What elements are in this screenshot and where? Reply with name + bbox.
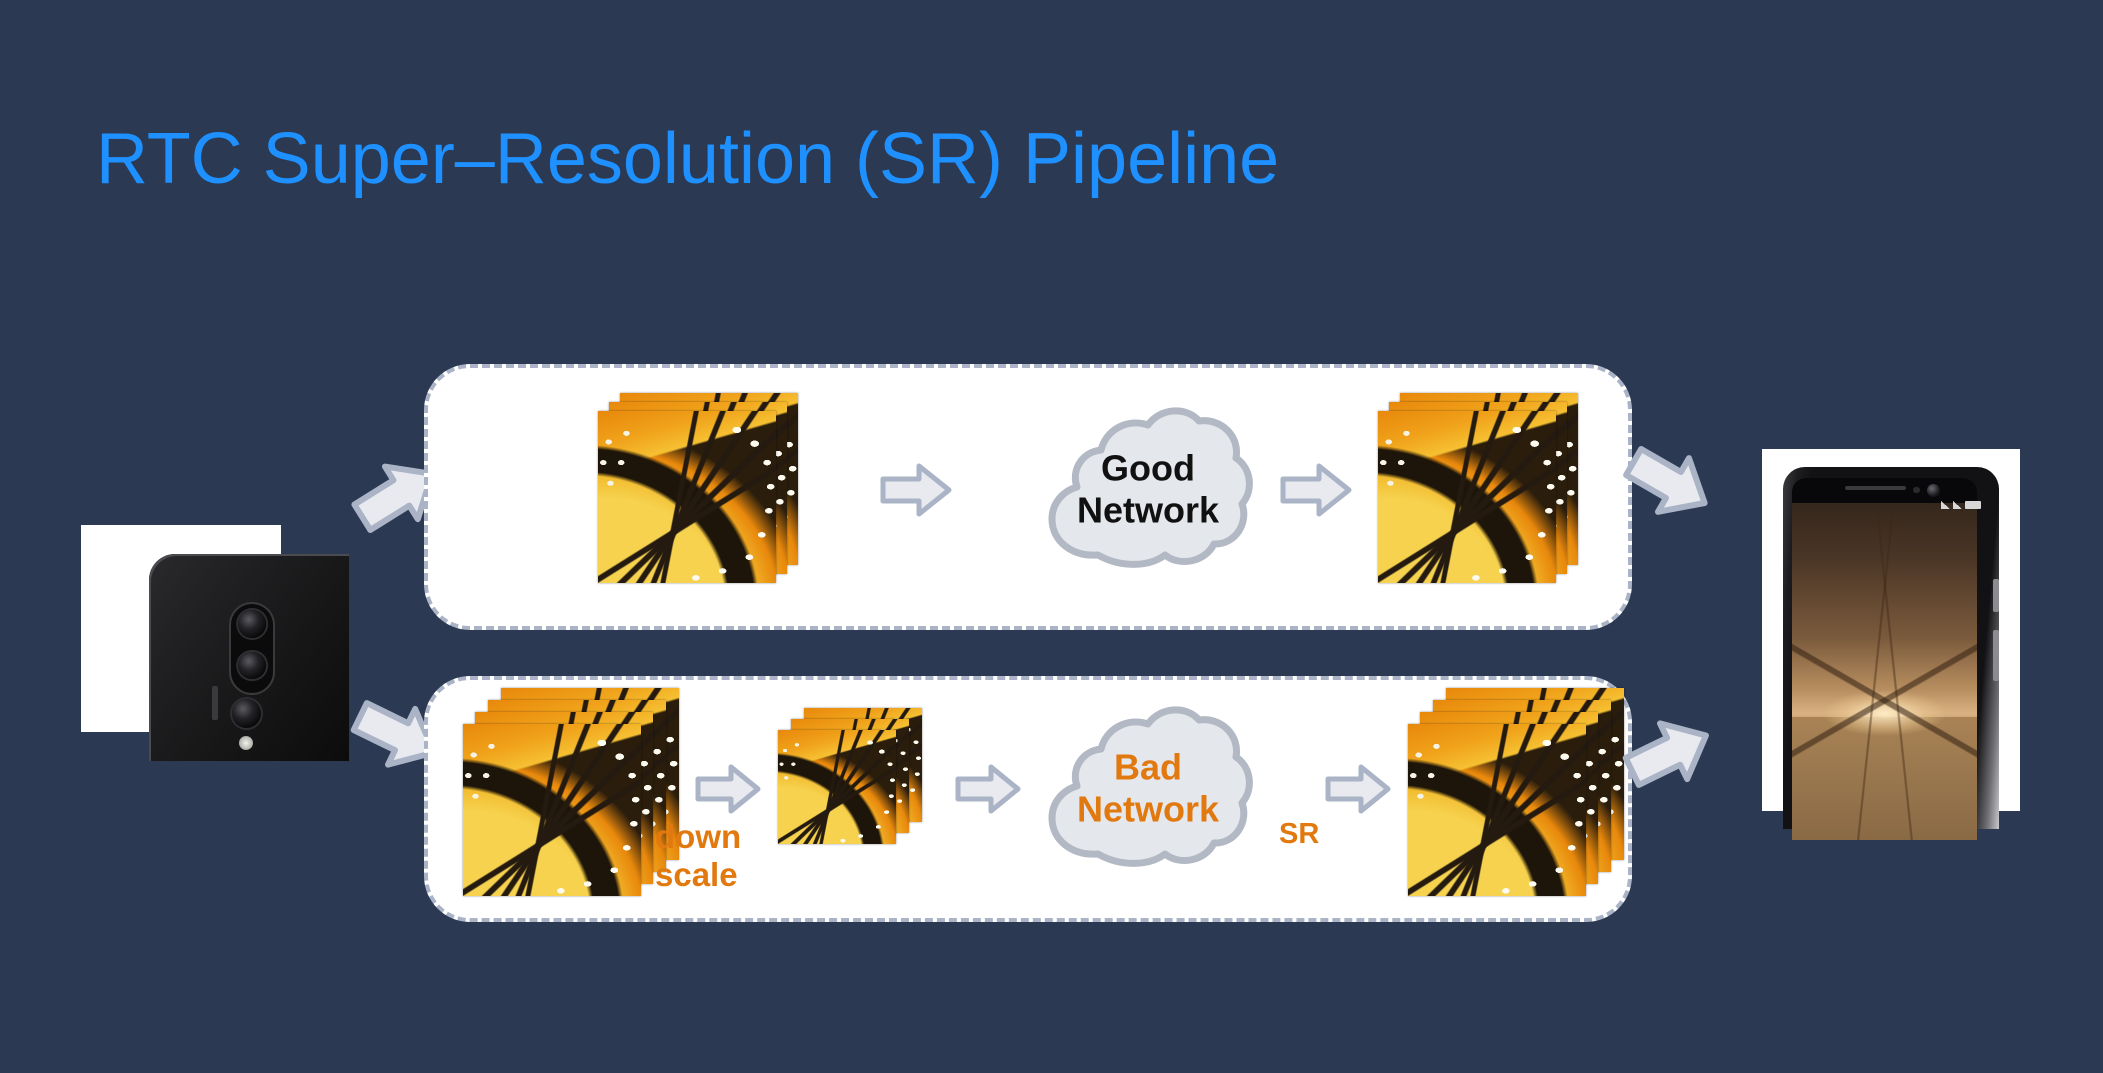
- phone-power-button: [1993, 630, 1999, 681]
- page-title: RTC Super–Resolution (SR) Pipeline: [96, 122, 1279, 198]
- image-stack-hr-source-bad: [463, 688, 683, 908]
- capture-phone-image: [81, 525, 281, 732]
- bad-network-pipeline-panel: Bad Network: [424, 676, 1632, 922]
- downscale-label-line1: down: [655, 818, 741, 856]
- downscale-label-line2: scale: [655, 856, 741, 894]
- image-stack-hr-source-good: [598, 393, 808, 593]
- phone-side-button: [212, 686, 218, 719]
- phone-top-bezel: [1792, 478, 1978, 503]
- good-network-pipeline-panel: Good Network: [424, 364, 1632, 630]
- sr-label: SR: [1279, 818, 1319, 852]
- display-phone-image: [1762, 449, 2020, 811]
- camera-band: [229, 602, 275, 695]
- slide-canvas: RTC Super–Resolution (SR) Pipeline: [0, 0, 2103, 1073]
- proximity-sensor-icon: [1913, 487, 1920, 494]
- arrow-transmit-bad: [953, 762, 1023, 816]
- good-network-cloud: Good Network: [1038, 395, 1258, 585]
- camera-lens-icon: [238, 652, 266, 680]
- image-stack-hr-received-good: [1378, 393, 1588, 593]
- camera-lens-icon: [238, 610, 266, 638]
- phone-rear-body: [149, 554, 349, 761]
- phone-volume-button: [1993, 579, 1999, 612]
- image-stack-sr-output: [1408, 688, 1628, 908]
- arrow-good-path-to-display: [1622, 440, 1718, 526]
- camera-flash-icon: [239, 736, 253, 750]
- signal-icon: [1941, 501, 1950, 509]
- downscale-label: down scale: [655, 818, 741, 895]
- battery-icon: [1965, 501, 1981, 509]
- camera-lens-icon: [232, 699, 261, 728]
- front-camera-icon: [1927, 484, 1940, 497]
- phone-screen-wallpaper: [1792, 478, 1978, 840]
- arrow-downscale: [693, 762, 763, 816]
- arrow-bad-path-to-display: [1622, 710, 1718, 796]
- arrow-super-resolution: [1323, 762, 1393, 816]
- bad-network-cloud: Bad Network: [1038, 694, 1258, 884]
- arrow-transmit-good: [878, 460, 954, 520]
- earpiece-speaker-icon: [1845, 486, 1907, 490]
- image-stack-lr-downscaled: [778, 708, 938, 868]
- arrow-receive-good: [1278, 460, 1354, 520]
- signal-icon: [1953, 501, 1962, 509]
- status-bar: [1941, 501, 1981, 509]
